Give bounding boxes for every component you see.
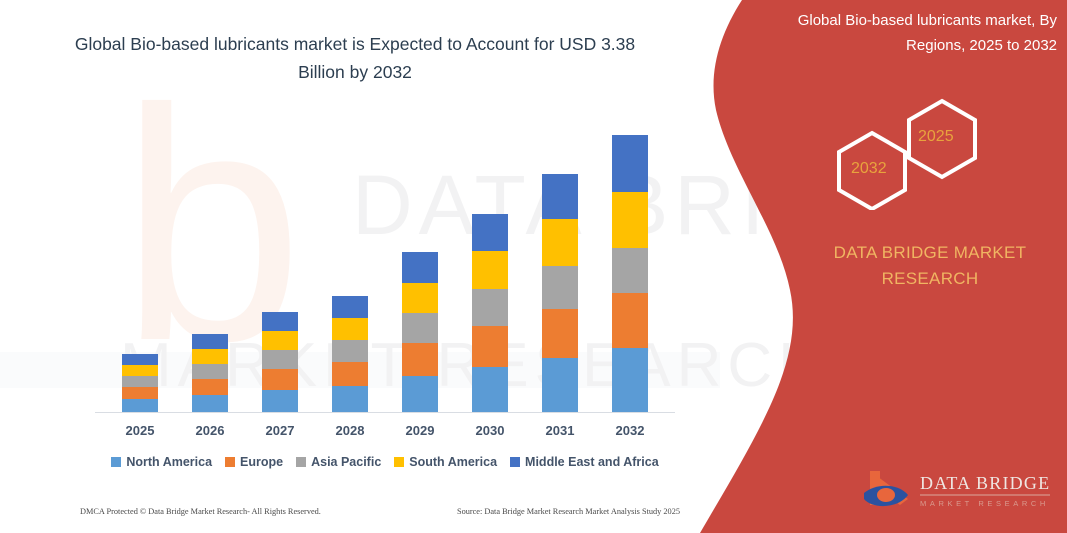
bar-segment xyxy=(472,367,508,412)
bar-segment xyxy=(612,135,648,192)
bar-segment xyxy=(402,283,438,313)
legend-item-north-america[interactable]: North America xyxy=(111,455,212,469)
bar-segment xyxy=(262,312,298,331)
bar-segment xyxy=(472,214,508,251)
bar-segment xyxy=(472,289,508,326)
logo-wordmark: DATA BRIDGE xyxy=(920,473,1050,493)
bar-segment xyxy=(122,354,158,365)
stacked-bar xyxy=(542,174,578,412)
bar-column-2031 xyxy=(529,174,591,412)
brand-line-1: DATA BRIDGE MARKET xyxy=(790,240,1067,266)
hexagon-2025-label: 2025 xyxy=(918,128,954,146)
legend-item-europe[interactable]: Europe xyxy=(225,455,283,469)
stacked-bar xyxy=(472,214,508,412)
legend-item-middle-east-and-africa[interactable]: Middle East and Africa xyxy=(510,455,659,469)
bar-column-2028 xyxy=(319,296,381,412)
bar-segment xyxy=(192,349,228,364)
bar-column-2030 xyxy=(459,214,521,412)
bar-segment xyxy=(472,326,508,367)
chart-plot-area xyxy=(95,110,675,412)
bar-segment xyxy=(192,395,228,412)
bar-segment xyxy=(192,379,228,395)
x-axis-label-2028: 2028 xyxy=(319,423,381,438)
legend-label: South America xyxy=(409,455,497,469)
legend-swatch-icon xyxy=(394,457,404,467)
legend-swatch-icon xyxy=(510,457,520,467)
page-title: Global Bio-based lubricants market is Ex… xyxy=(60,30,650,86)
infographic-root: b DATA BRIDGE MARKET RESEARCH Global Bio… xyxy=(0,0,1067,533)
bar-segment xyxy=(122,399,158,412)
bar-segment xyxy=(122,376,158,387)
legend-swatch-icon xyxy=(225,457,235,467)
stacked-bar xyxy=(612,135,648,412)
bar-segment xyxy=(612,248,648,293)
bar-segment xyxy=(262,390,298,412)
legend-label: Europe xyxy=(240,455,283,469)
stacked-bar xyxy=(192,334,228,412)
stacked-bar xyxy=(402,252,438,412)
x-axis-label-2031: 2031 xyxy=(529,423,591,438)
x-axis-label-2026: 2026 xyxy=(179,423,241,438)
bar-column-2025 xyxy=(109,354,171,412)
bar-segment xyxy=(332,340,368,362)
bar-column-2029 xyxy=(389,252,451,412)
brand-line-2: RESEARCH xyxy=(790,266,1067,292)
bar-segment xyxy=(402,313,438,343)
bar-segment xyxy=(612,192,648,248)
bar-column-2027 xyxy=(249,312,311,412)
legend-label: North America xyxy=(126,455,212,469)
x-axis-label-2025: 2025 xyxy=(109,423,171,438)
stacked-bar-chart xyxy=(95,110,675,415)
legend-swatch-icon xyxy=(296,457,306,467)
bar-segment xyxy=(542,266,578,309)
bar-segment xyxy=(332,362,368,386)
bar-segment xyxy=(472,251,508,289)
bar-segment xyxy=(122,365,158,376)
chart-x-axis-labels: 20252026202720282029203020312032 xyxy=(95,423,675,438)
hexagon-2032-label: 2032 xyxy=(851,160,887,178)
bar-segment xyxy=(542,174,578,219)
x-axis-label-2027: 2027 xyxy=(249,423,311,438)
bar-segment xyxy=(402,376,438,412)
chart-legend: North AmericaEuropeAsia PacificSouth Ame… xyxy=(95,455,675,469)
bar-segment xyxy=(122,387,158,399)
brand-name-block: DATA BRIDGE MARKET RESEARCH xyxy=(790,240,1067,292)
footer-source: Source: Data Bridge Market Research Mark… xyxy=(457,507,680,516)
bar-segment xyxy=(612,348,648,412)
legend-label: Middle East and Africa xyxy=(525,455,659,469)
bar-segment xyxy=(332,386,368,412)
bar-segment xyxy=(542,219,578,266)
bar-segment xyxy=(542,358,578,412)
legend-item-asia-pacific[interactable]: Asia Pacific xyxy=(296,455,381,469)
footer-copyright: DMCA Protected © Data Bridge Market Rese… xyxy=(80,507,321,516)
bar-segment xyxy=(192,334,228,349)
bar-segment xyxy=(332,318,368,340)
legend-label: Asia Pacific xyxy=(311,455,381,469)
bar-segment xyxy=(262,331,298,350)
stacked-bar xyxy=(262,312,298,412)
logo-bridge-icon xyxy=(864,471,908,506)
bar-segment xyxy=(192,364,228,379)
bar-segment xyxy=(542,309,578,358)
logo-tagline: MARKET RESEARCH xyxy=(920,499,1049,508)
x-axis-label-2030: 2030 xyxy=(459,423,521,438)
bar-segment xyxy=(262,369,298,390)
legend-swatch-icon xyxy=(111,457,121,467)
bar-segment xyxy=(612,293,648,348)
stacked-bar xyxy=(122,354,158,412)
chart-x-axis-line xyxy=(95,412,675,413)
bar-segment xyxy=(402,343,438,376)
bar-segment xyxy=(332,296,368,318)
right-panel-title: Global Bio-based lubricants market, By R… xyxy=(752,8,1057,58)
data-bridge-logo: DATA BRIDGE MARKET RESEARCH xyxy=(862,465,1062,515)
bar-segment xyxy=(262,350,298,369)
x-axis-label-2032: 2032 xyxy=(599,423,661,438)
stacked-bar xyxy=(332,296,368,412)
bar-segment xyxy=(402,252,438,283)
x-axis-label-2029: 2029 xyxy=(389,423,451,438)
bar-column-2026 xyxy=(179,334,241,412)
legend-item-south-america[interactable]: South America xyxy=(394,455,497,469)
footer: DMCA Protected © Data Bridge Market Rese… xyxy=(80,507,680,516)
bar-column-2032 xyxy=(599,135,661,412)
hexagon-group: 2025 2032 xyxy=(820,95,1000,210)
